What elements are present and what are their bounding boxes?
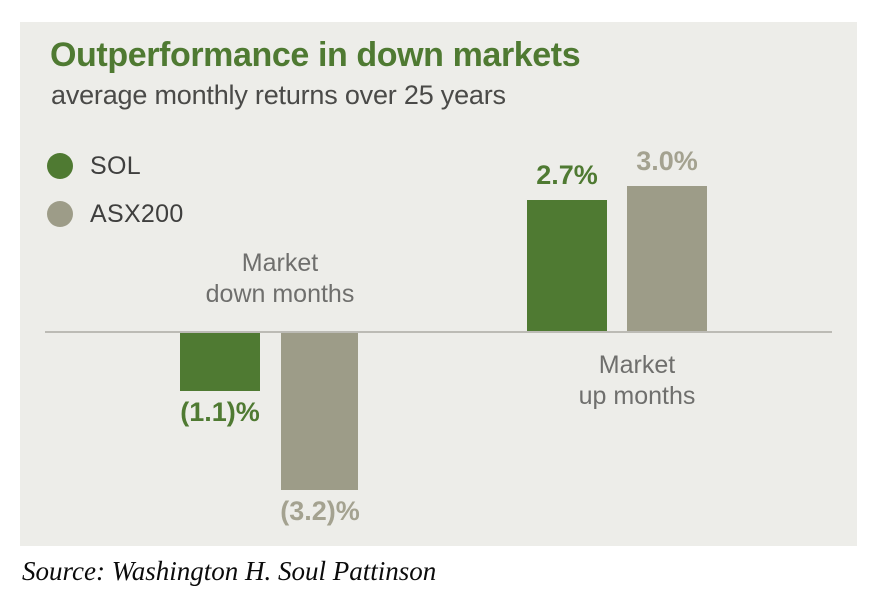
group-label-line1: Market (517, 350, 757, 381)
bar-asx200-market-up-months (627, 186, 707, 331)
bar-sol-market-down-months (180, 333, 260, 391)
group-label-line2: down months (160, 279, 400, 310)
value-label-asx200-market-down-months: (3.2)% (260, 496, 380, 527)
group-label-line2: up months (517, 381, 757, 412)
group-label-market-up-months: Market up months (517, 350, 757, 411)
group-label-line1: Market (160, 248, 400, 279)
source-note: Source: Washington H. Soul Pattinson (22, 556, 436, 587)
plot-area: Market down months (1.1)% (3.2)% Market … (20, 22, 857, 546)
value-label-sol-market-down-months: (1.1)% (160, 397, 280, 428)
value-label-asx200-market-up-months: 3.0% (607, 146, 727, 177)
zero-axis-line (45, 331, 832, 333)
group-label-market-down-months: Market down months (160, 248, 400, 309)
bar-sol-market-up-months (527, 200, 607, 331)
bar-asx200-market-down-months (281, 333, 358, 490)
chart-panel: Outperformance in down markets average m… (20, 22, 857, 546)
